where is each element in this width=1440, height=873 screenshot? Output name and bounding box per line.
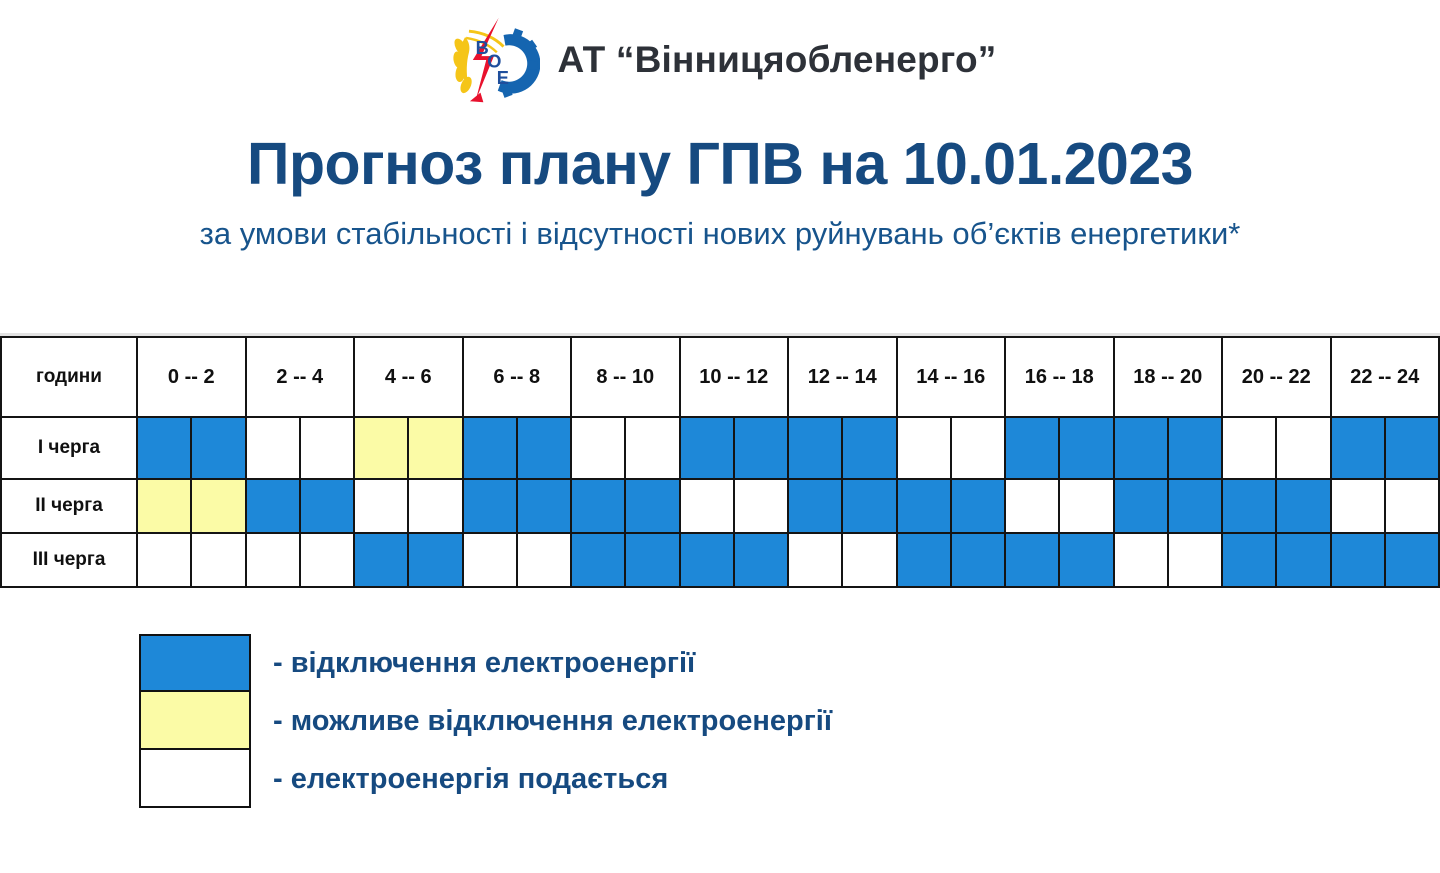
schedule-cell bbox=[734, 417, 788, 479]
schedule-cell bbox=[517, 533, 571, 587]
schedule-cell bbox=[246, 479, 300, 533]
slot-header: 8 -- 10 bbox=[571, 337, 680, 417]
company-name: АТ “Вінницяобленерго” bbox=[558, 39, 997, 81]
schedule-cell bbox=[191, 533, 245, 587]
schedule-cell bbox=[191, 479, 245, 533]
legend-label-supplied: - електроенергія подається bbox=[273, 763, 668, 796]
schedule-cell bbox=[571, 479, 625, 533]
page-subtitle: за умови стабільності і відсутності нови… bbox=[0, 216, 1440, 252]
schedule-cell bbox=[300, 417, 354, 479]
schedule-cell bbox=[1005, 479, 1059, 533]
schedule-cell bbox=[951, 417, 1005, 479]
legend-swatch-possible bbox=[139, 692, 251, 750]
schedule-cell bbox=[1331, 479, 1385, 533]
schedule-cell bbox=[1168, 533, 1222, 587]
schedule-cell bbox=[788, 479, 842, 533]
slot-header: 6 -- 8 bbox=[463, 337, 572, 417]
schedule-cell bbox=[1385, 479, 1439, 533]
schedule-cell bbox=[1331, 417, 1385, 479]
schedule-cell bbox=[463, 417, 517, 479]
schedule-table-wrap: години 0 -- 2 2 -- 4 4 -- 6 6 -- 8 8 -- … bbox=[0, 333, 1440, 588]
slot-header: 0 -- 2 bbox=[137, 337, 246, 417]
legend-item-supplied: - електроенергія подається bbox=[139, 750, 832, 808]
schedule-cell bbox=[842, 533, 896, 587]
legend-swatch-outage bbox=[139, 634, 251, 692]
table-row: II черга bbox=[1, 479, 1439, 533]
schedule-cell bbox=[951, 479, 1005, 533]
schedule-table: години 0 -- 2 2 -- 4 4 -- 6 6 -- 8 8 -- … bbox=[0, 336, 1440, 588]
schedule-cell bbox=[625, 417, 679, 479]
schedule-cell bbox=[1114, 417, 1168, 479]
schedule-cell bbox=[951, 533, 1005, 587]
schedule-cell bbox=[734, 479, 788, 533]
table-header-row: години 0 -- 2 2 -- 4 4 -- 6 6 -- 8 8 -- … bbox=[1, 337, 1439, 417]
schedule-cell bbox=[1005, 417, 1059, 479]
schedule-body: I черга II черга III черга bbox=[1, 417, 1439, 587]
schedule-cell bbox=[625, 533, 679, 587]
schedule-cell bbox=[1222, 533, 1276, 587]
schedule-cell bbox=[137, 533, 191, 587]
schedule-cell bbox=[680, 479, 734, 533]
schedule-cell bbox=[517, 417, 571, 479]
schedule-cell bbox=[842, 479, 896, 533]
schedule-cell bbox=[408, 533, 462, 587]
schedule-cell bbox=[734, 533, 788, 587]
schedule-cell bbox=[463, 533, 517, 587]
schedule-cell bbox=[1168, 417, 1222, 479]
schedule-cell bbox=[517, 479, 571, 533]
schedule-cell bbox=[571, 533, 625, 587]
slot-header: 2 -- 4 bbox=[246, 337, 355, 417]
slot-header: 20 -- 22 bbox=[1222, 337, 1331, 417]
schedule-cell bbox=[1331, 533, 1385, 587]
slot-header: 4 -- 6 bbox=[354, 337, 463, 417]
schedule-cell bbox=[1059, 479, 1113, 533]
slot-header: 14 -- 16 bbox=[897, 337, 1006, 417]
schedule-cell bbox=[897, 479, 951, 533]
schedule-cell bbox=[1059, 417, 1113, 479]
schedule-cell bbox=[897, 533, 951, 587]
schedule-cell bbox=[137, 417, 191, 479]
table-row: I черга bbox=[1, 417, 1439, 479]
schedule-cell bbox=[1385, 417, 1439, 479]
schedule-cell bbox=[137, 479, 191, 533]
legend-swatch-supplied bbox=[139, 750, 251, 808]
queue-label: I черга bbox=[1, 417, 137, 479]
slot-header: 16 -- 18 bbox=[1005, 337, 1114, 417]
schedule-cell bbox=[842, 417, 896, 479]
brand-header: В О Е АТ “Вінницяобленерго” bbox=[0, 0, 1440, 120]
schedule-cell bbox=[246, 533, 300, 587]
hours-corner-label: години bbox=[1, 337, 137, 417]
schedule-cell bbox=[463, 479, 517, 533]
slot-header: 12 -- 14 bbox=[788, 337, 897, 417]
table-row: III черга bbox=[1, 533, 1439, 587]
slot-header: 10 -- 12 bbox=[680, 337, 789, 417]
schedule-cell bbox=[1276, 533, 1330, 587]
slot-header: 22 -- 24 bbox=[1331, 337, 1440, 417]
schedule-cell bbox=[1276, 479, 1330, 533]
schedule-cell bbox=[571, 417, 625, 479]
schedule-cell bbox=[354, 417, 408, 479]
slot-header: 18 -- 20 bbox=[1114, 337, 1223, 417]
queue-label: III черга bbox=[1, 533, 137, 587]
schedule-cell bbox=[1222, 479, 1276, 533]
schedule-cell bbox=[1005, 533, 1059, 587]
schedule-cell bbox=[680, 417, 734, 479]
voe-emblem-icon: В О Е bbox=[444, 12, 540, 108]
schedule-cell bbox=[1222, 417, 1276, 479]
schedule-cell bbox=[246, 417, 300, 479]
queue-label: II черга bbox=[1, 479, 137, 533]
schedule-cell bbox=[1168, 479, 1222, 533]
legend-item-outage: - відключення електроенергії bbox=[139, 634, 832, 692]
schedule-cell bbox=[1059, 533, 1113, 587]
svg-text:Е: Е bbox=[496, 67, 508, 88]
legend-item-possible: - можливе відключення електроенергії bbox=[139, 692, 832, 750]
schedule-cell bbox=[1114, 479, 1168, 533]
schedule-cell bbox=[625, 479, 679, 533]
schedule-cell bbox=[680, 533, 734, 587]
schedule-cell bbox=[1276, 417, 1330, 479]
legend: - відключення електроенергії - можливе в… bbox=[139, 634, 832, 808]
schedule-cell bbox=[897, 417, 951, 479]
title-block: Прогноз плану ГПВ на 10.01.2023 за умови… bbox=[0, 120, 1440, 252]
schedule-cell bbox=[1114, 533, 1168, 587]
schedule-cell bbox=[300, 533, 354, 587]
schedule-cell bbox=[408, 417, 462, 479]
schedule-cell bbox=[354, 479, 408, 533]
schedule-cell bbox=[408, 479, 462, 533]
schedule-cell bbox=[300, 479, 354, 533]
legend-label-outage: - відключення електроенергії bbox=[273, 647, 695, 680]
schedule-cell bbox=[788, 417, 842, 479]
schedule-cell bbox=[191, 417, 245, 479]
schedule-cell bbox=[354, 533, 408, 587]
legend-label-possible: - можливе відключення електроенергії bbox=[273, 705, 832, 738]
page-title: Прогноз плану ГПВ на 10.01.2023 bbox=[0, 134, 1440, 194]
schedule-cell bbox=[1385, 533, 1439, 587]
schedule-cell bbox=[788, 533, 842, 587]
